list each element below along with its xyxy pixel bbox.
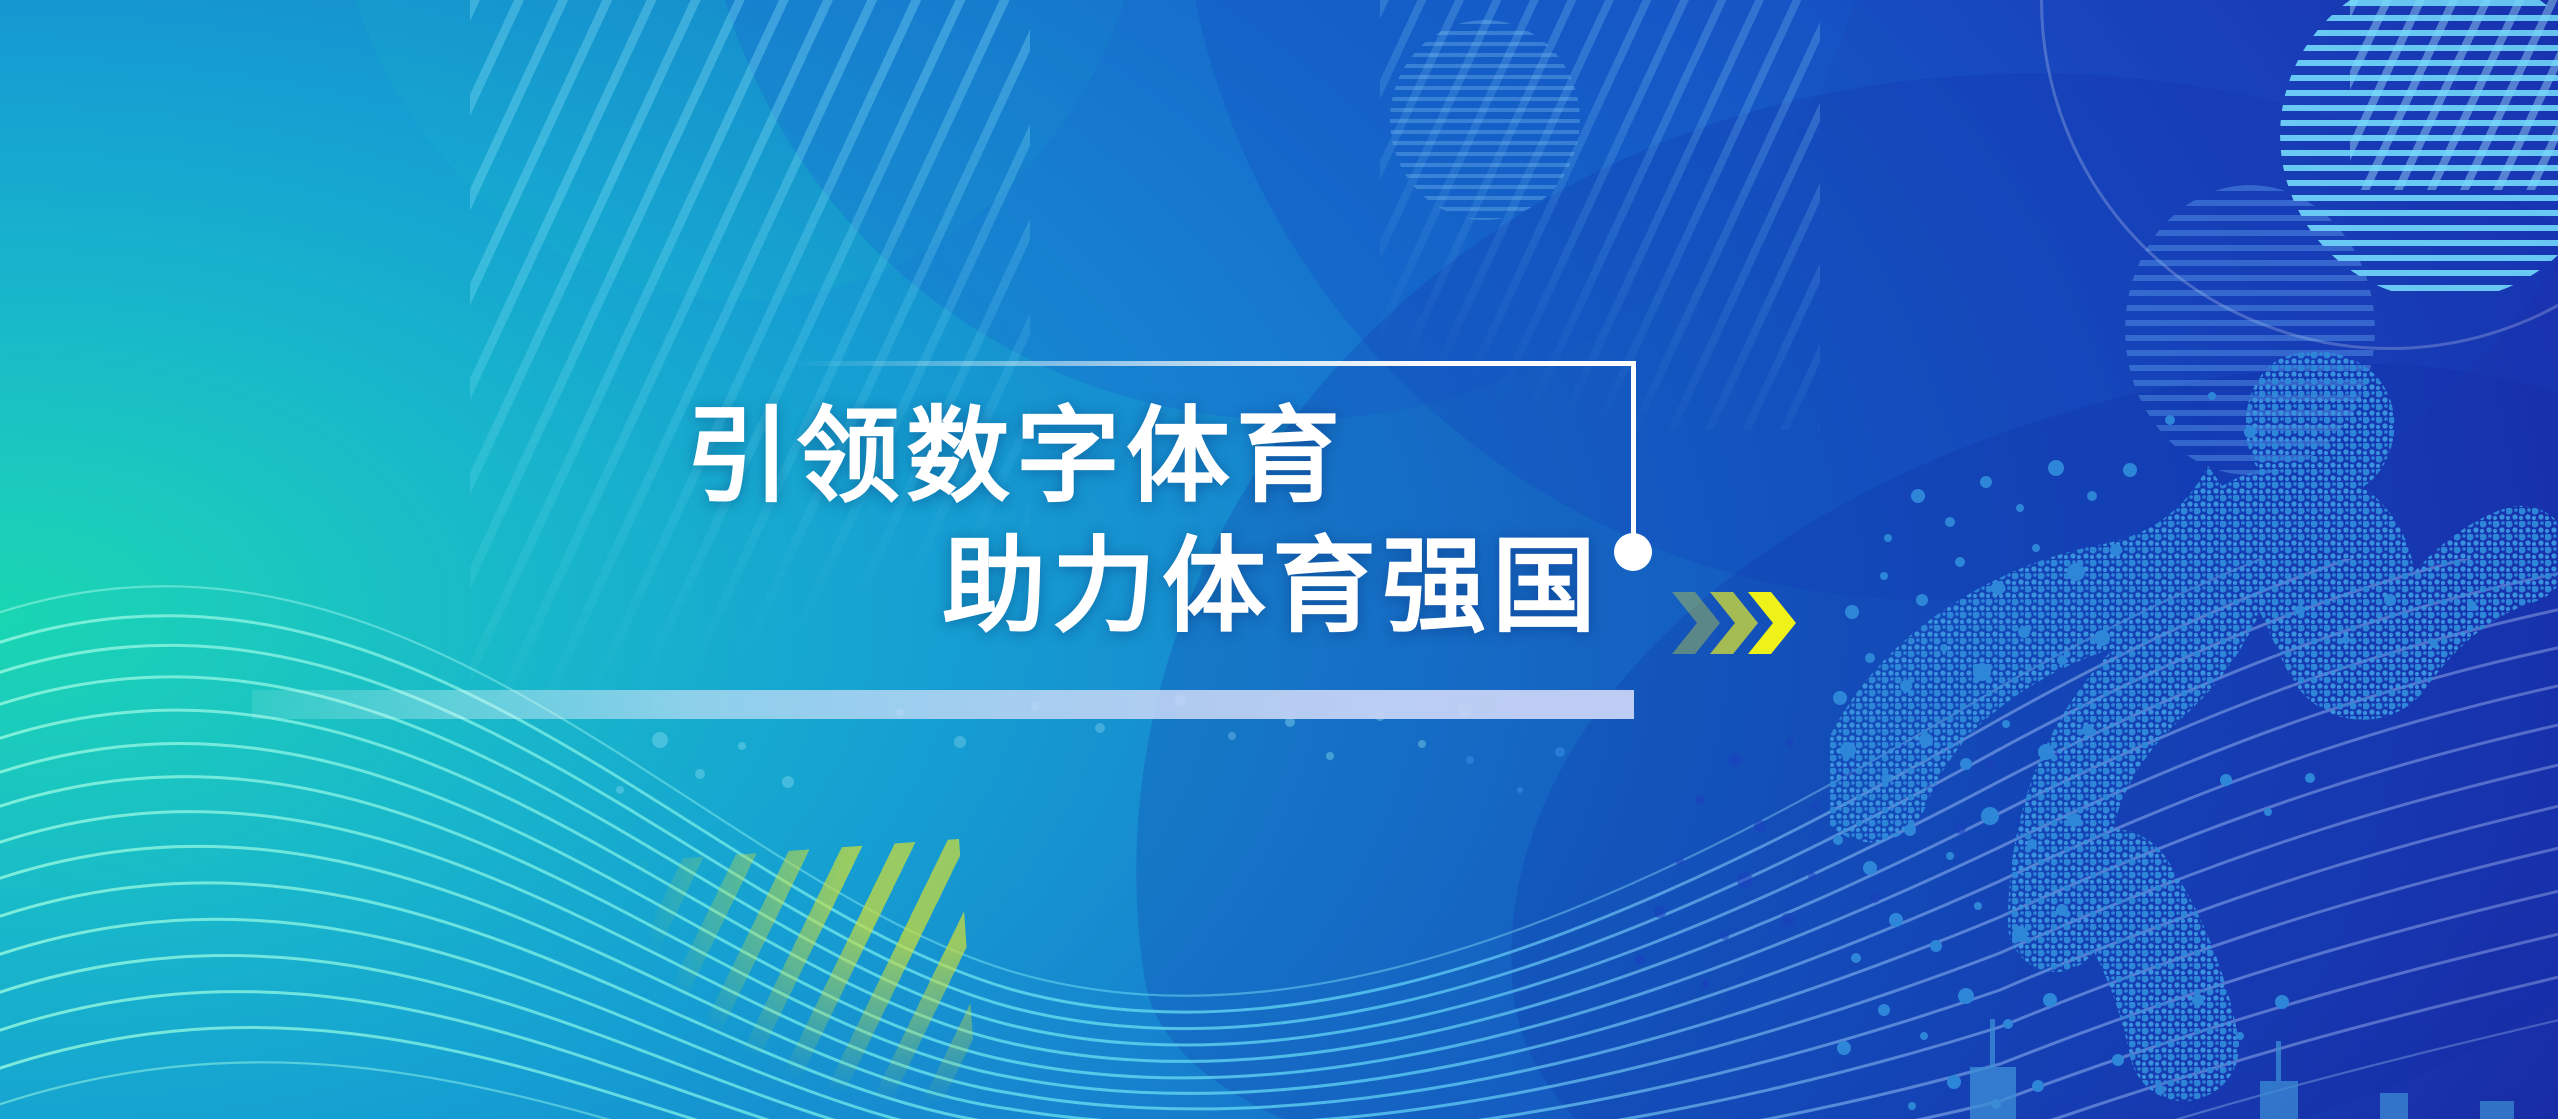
chevron-arrows-icon xyxy=(1672,592,1802,654)
headline-line-2: 助力体育强国 xyxy=(686,522,1646,652)
chevron-right-icon-1 xyxy=(1672,592,1720,654)
page-title: 引领数字体育 助力体育强国 xyxy=(686,392,1646,652)
sports-digital-banner: 引领数字体育 助力体育强国 xyxy=(0,0,2558,1119)
frame-top-line xyxy=(790,361,1635,366)
city-skyline-icon xyxy=(1960,989,2558,1119)
accent-bar xyxy=(252,690,1634,719)
headline-line-1: 引领数字体育 xyxy=(686,392,1646,522)
